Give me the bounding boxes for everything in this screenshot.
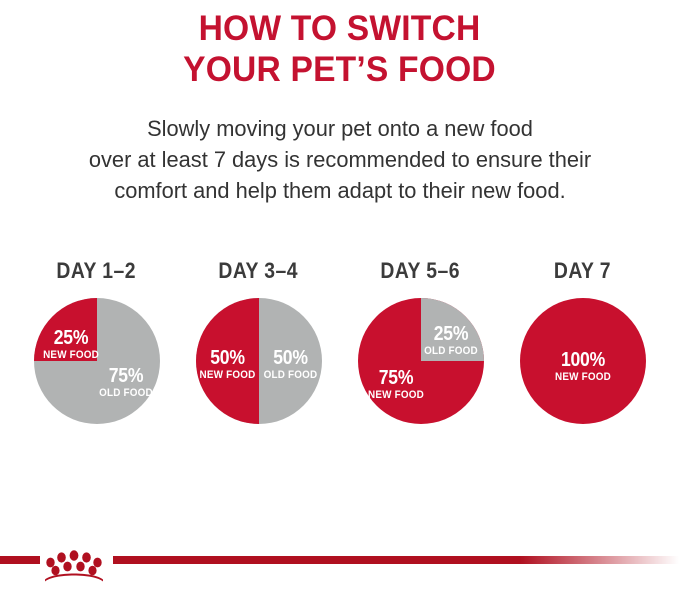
infographic-page: { "header": { "title_line1": "HOW TO SWI…: [0, 0, 679, 594]
footer-rule-right: [113, 556, 679, 564]
pie-slice-new-food-4: [520, 298, 646, 424]
intro-line-2: over at least 7 days is recommended to e…: [24, 144, 655, 175]
pie-svg-3: [358, 298, 484, 424]
page-footer: [0, 548, 679, 594]
page-title-line-1: HOW TO SWITCH: [14, 8, 666, 49]
intro-paragraph: Slowly moving your pet onto a new food o…: [24, 113, 655, 206]
page-title: HOW TO SWITCH YOUR PET’S FOOD: [14, 8, 666, 91]
pie-cell-day-3-4: DAY 3–4 50% NEW FOOD 50% OLD FOOD: [178, 258, 340, 424]
crown-icon: [40, 548, 108, 582]
pie-chart-day-3-4: 50% NEW FOOD 50% OLD FOOD: [196, 298, 322, 424]
intro-line-3: comfort and help them adapt to their new…: [24, 175, 655, 206]
day-label-3: DAY 5–6: [381, 258, 461, 284]
pie-chart-day-1-2: 25% NEW FOOD 75% OLD FOOD: [34, 298, 160, 424]
page-header: HOW TO SWITCH YOUR PET’S FOOD: [0, 0, 679, 91]
page-title-line-2: YOUR PET’S FOOD: [14, 49, 666, 90]
pie-svg-4: [520, 298, 646, 424]
day-label-2: DAY 3–4: [219, 258, 299, 284]
pie-slice-new-food-2: [196, 298, 259, 424]
footer-rule-left: [0, 556, 40, 564]
pie-svg-2: [196, 298, 322, 424]
pie-chart-day-5-6: 25% OLD FOOD 75% NEW FOOD: [358, 298, 484, 424]
pie-cell-day-5-6: DAY 5–6 25% OLD FOOD 75% NEW FOOD: [340, 258, 502, 424]
pie-cell-day-7: DAY 7 100% NEW FOOD: [502, 258, 664, 424]
pie-chart-day-7: 100% NEW FOOD: [520, 298, 646, 424]
pie-slice-old-food-3: [421, 298, 484, 361]
intro-line-1: Slowly moving your pet onto a new food: [24, 113, 655, 144]
pie-svg-1: [34, 298, 160, 424]
pie-slice-new-food-1: [34, 298, 97, 361]
pie-chart-row: DAY 1–2 25% NEW FOOD 75% OLD FOOD DAY 3–…: [0, 258, 679, 424]
pie-cell-day-1-2: DAY 1–2 25% NEW FOOD 75% OLD FOOD: [16, 258, 178, 424]
day-label-1: DAY 1–2: [57, 258, 137, 284]
day-label-4: DAY 7: [554, 258, 611, 284]
